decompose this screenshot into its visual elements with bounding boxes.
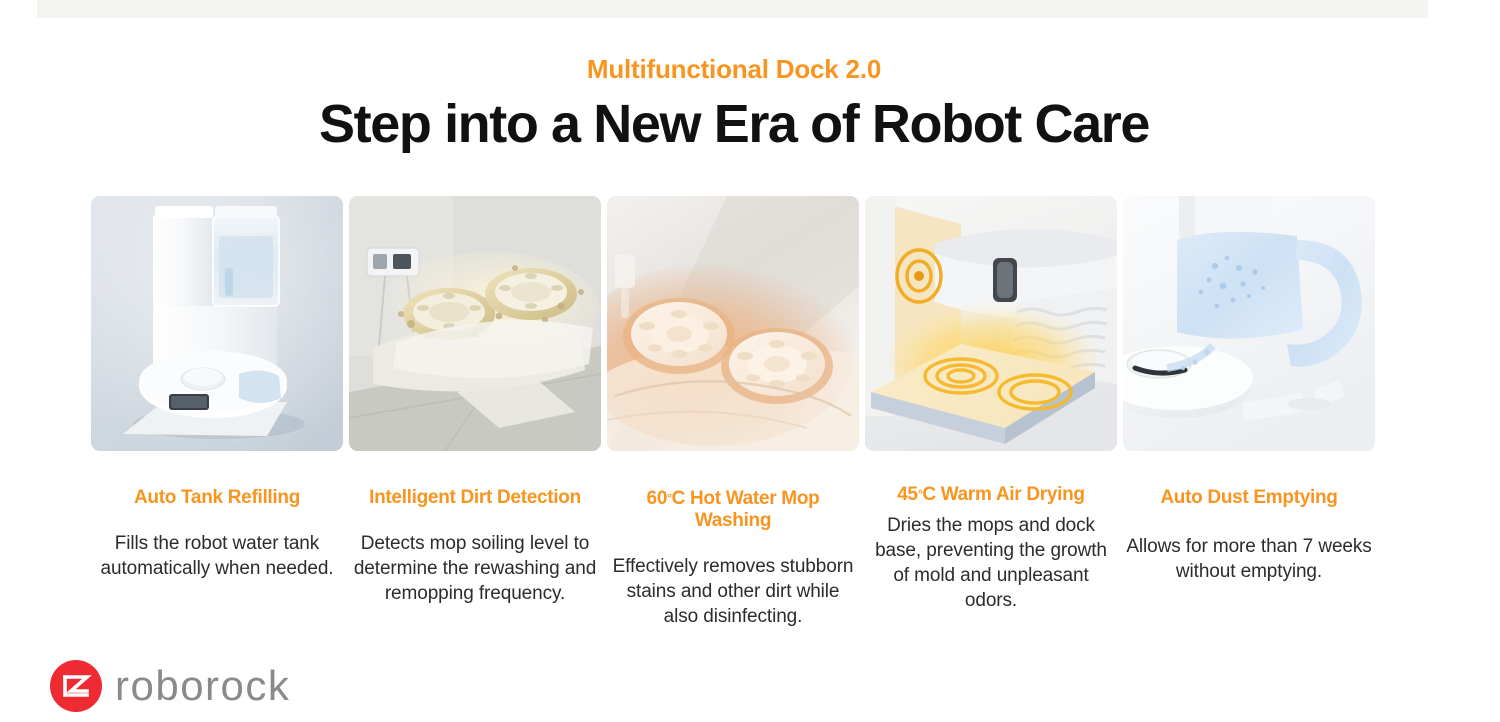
feature-title-text: Intelligent Dirt Detection xyxy=(369,487,581,508)
feature-title-text: Auto Dust Emptying xyxy=(1160,487,1337,508)
dock-with-water-tanks-photo xyxy=(91,196,343,451)
feature-title: Auto Dust Emptying xyxy=(1123,487,1375,509)
feature-title-temperature: 45 xyxy=(897,484,918,505)
feature-description: Detects mop soiling level to determine t… xyxy=(349,531,601,606)
feature-description: Fills the robot water tank automatically… xyxy=(91,531,343,581)
feature-card: Auto Dust Emptying Allows for more than … xyxy=(1123,196,1375,629)
feature-title-text: Auto Tank Refilling xyxy=(134,487,300,508)
feature-title: 45°C Warm Air Drying xyxy=(865,483,1117,506)
feature-card: 60°C Hot Water Mop Washing Effectively r… xyxy=(607,196,859,629)
feature-description: Effectively removes stubborn stains and … xyxy=(607,554,859,629)
feature-card: Auto Tank Refilling Fills the robot wate… xyxy=(91,196,343,629)
hot-water-mop-washing-photo xyxy=(607,196,859,451)
feature-description: Allows for more than 7 weeks without emp… xyxy=(1123,534,1375,584)
roborock-wordmark: roborock xyxy=(115,665,290,707)
auto-dust-emptying-photo xyxy=(1123,196,1375,451)
feature-title-text: C Warm Air Drying xyxy=(922,484,1084,505)
feature-title-text: C Hot Water Mop Washing xyxy=(672,488,820,531)
feature-title: Intelligent Dirt Detection xyxy=(349,487,601,509)
feature-title-temperature: 60 xyxy=(647,488,668,509)
feature-description: Dries the mops and dock base, preventing… xyxy=(865,513,1117,613)
roborock-mark-icon xyxy=(50,660,102,712)
eyebrow-heading: Multifunctional Dock 2.0 xyxy=(0,54,1468,85)
feature-card: Intelligent Dirt Detection Detects mop s… xyxy=(349,196,601,629)
page-title: Step into a New Era of Robot Care xyxy=(0,92,1468,156)
top-decorative-band xyxy=(37,0,1428,18)
feature-grid: Auto Tank Refilling Fills the robot wate… xyxy=(91,196,1379,629)
dirty-mop-pads-detection-photo xyxy=(349,196,601,451)
warm-air-drying-photo xyxy=(865,196,1117,451)
product-feature-page: Multifunctional Dock 2.0 Step into a New… xyxy=(0,0,1500,722)
feature-card: 45°C Warm Air Drying Dries the mops and … xyxy=(865,196,1117,629)
feature-title: 60°C Hot Water Mop Washing xyxy=(607,487,859,532)
feature-title: Auto Tank Refilling xyxy=(91,487,343,509)
brand-logo: roborock xyxy=(50,660,290,712)
